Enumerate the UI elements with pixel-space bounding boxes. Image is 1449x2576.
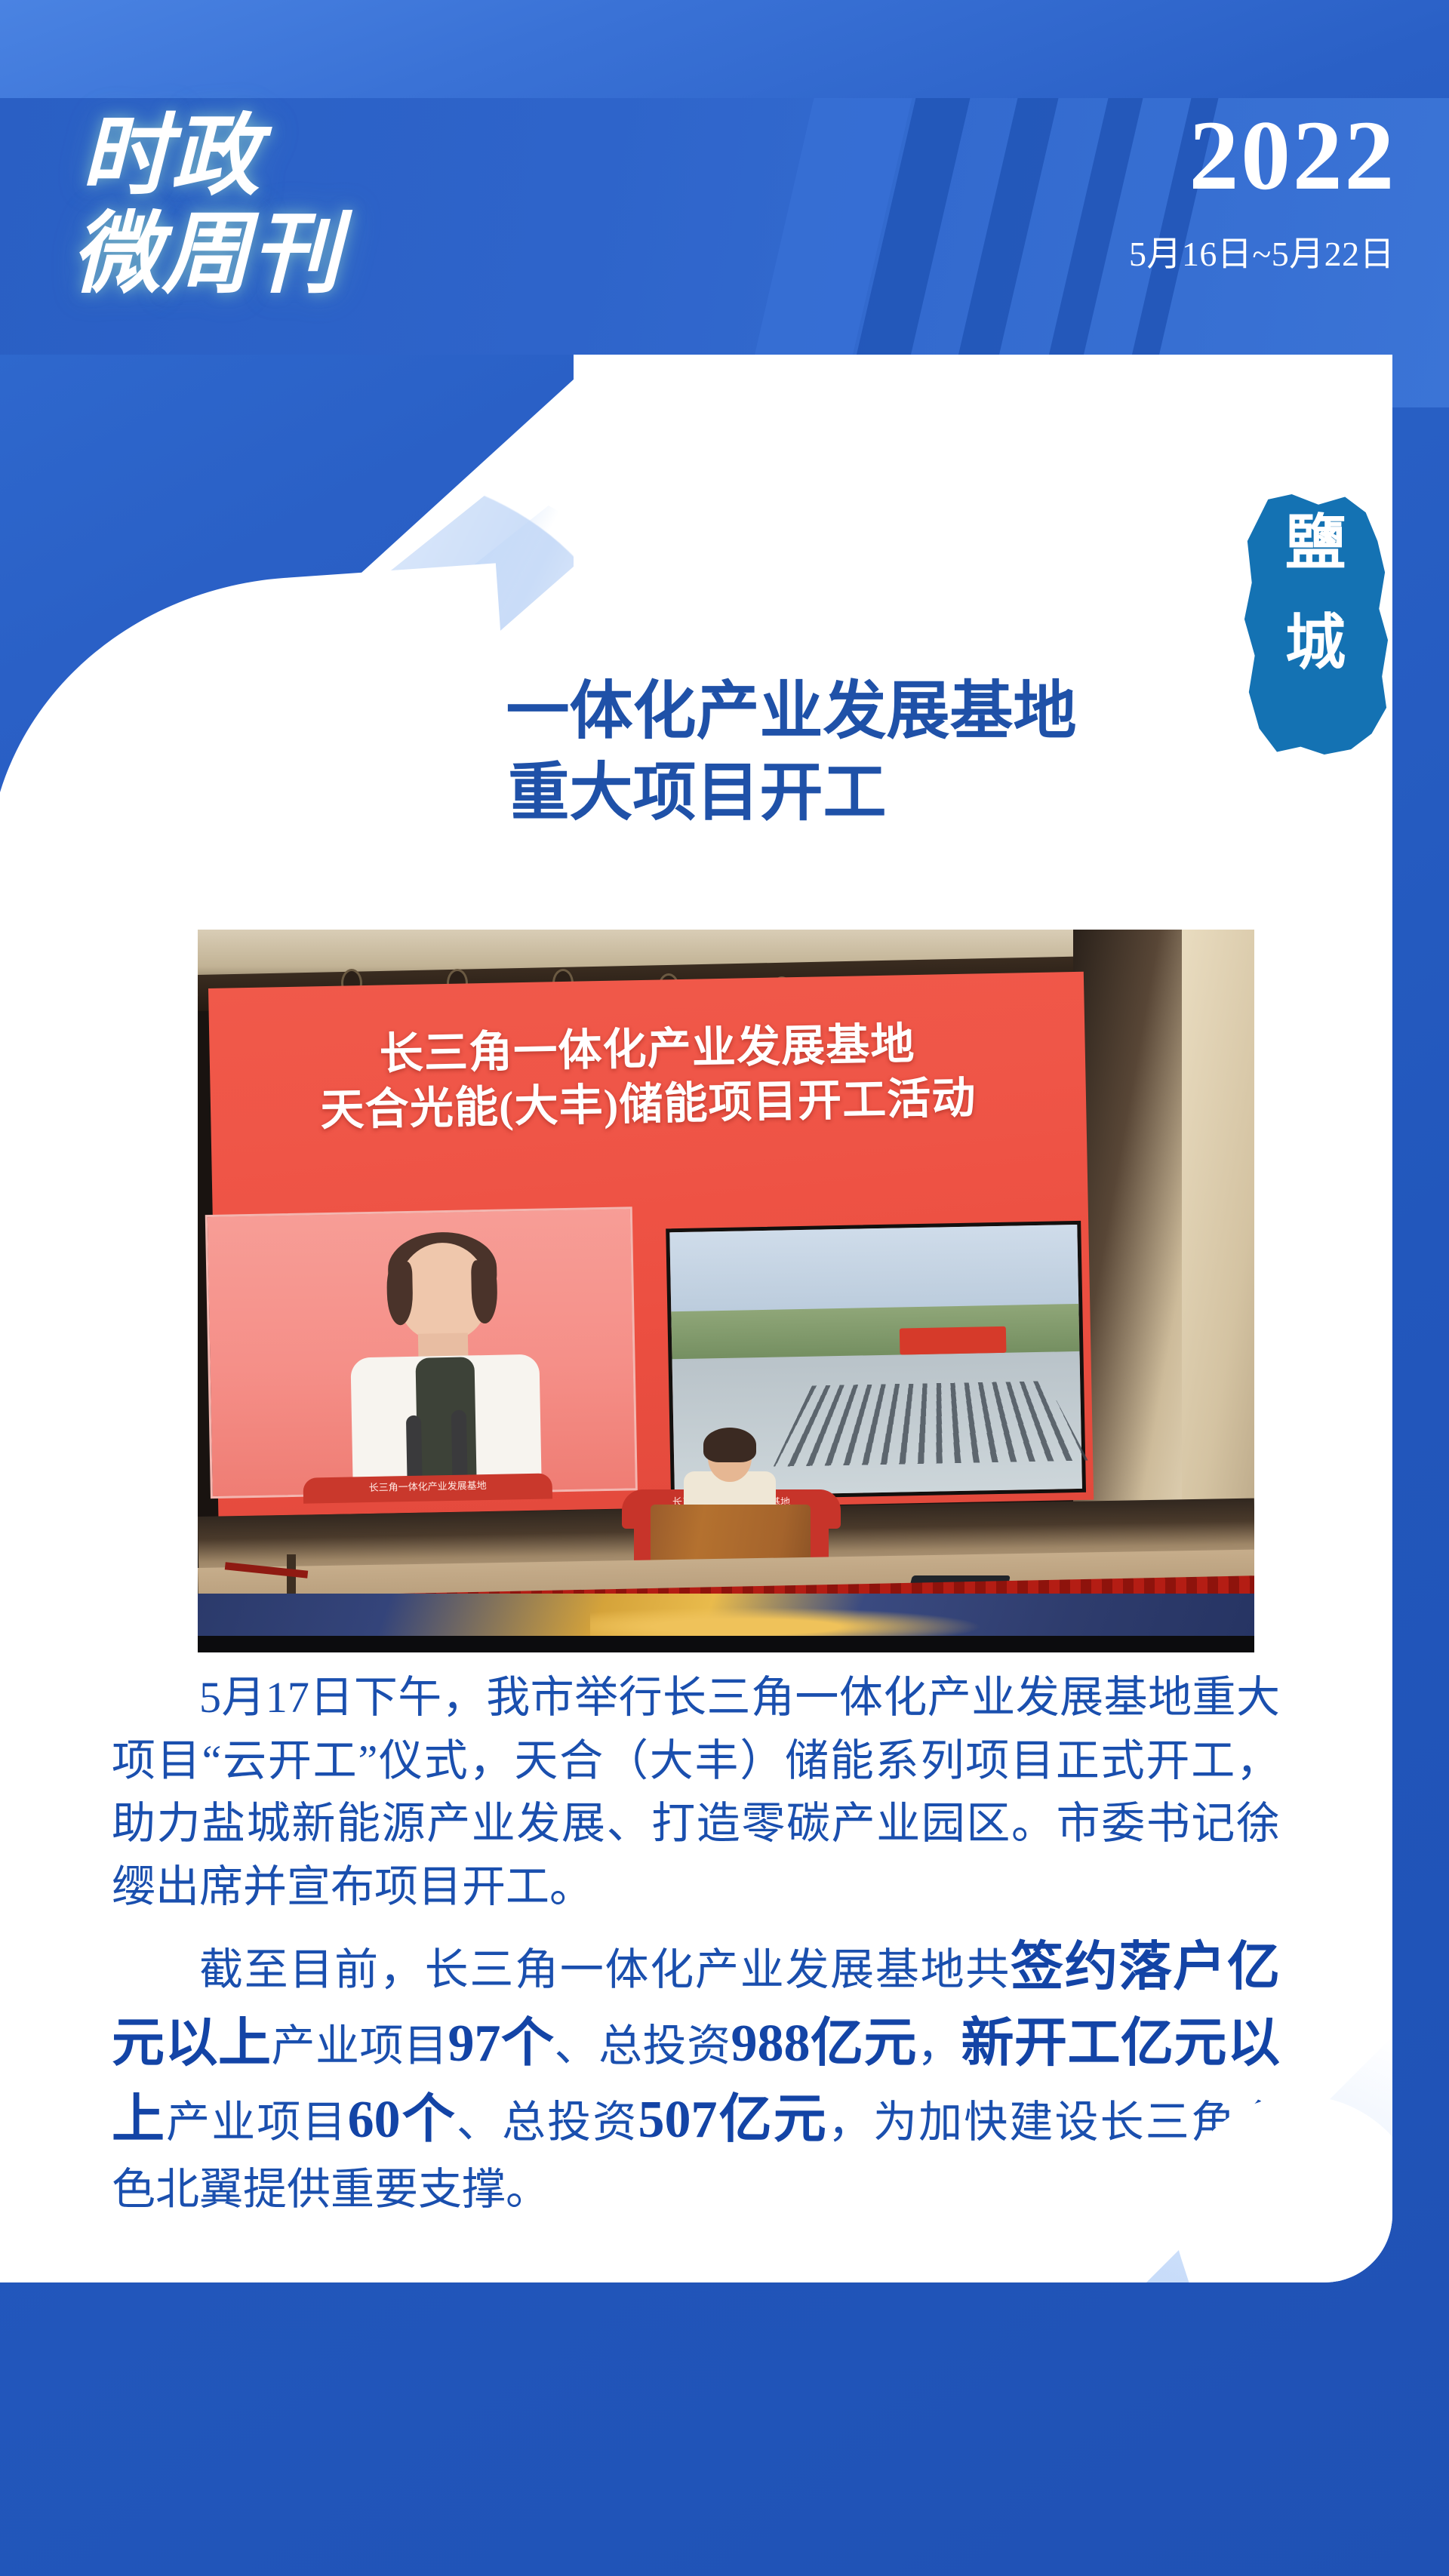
content-card: 长三角一体化产业发展基地 重大项目开工 长三角一体化产业发展基地 天合光能(大丰…	[0, 355, 1392, 2282]
photo-bottom-edge	[198, 1636, 1254, 1652]
article-title-line-1: 长三角一体化产业发展基地	[0, 672, 1392, 753]
photo-led-backdrop: 长三角一体化产业发展基地 天合光能(大丰)储能项目开工活动 长三角一体化产业发展…	[208, 972, 1094, 1517]
photo-video-banner	[900, 1326, 1006, 1355]
article-body: 5月17日下午，我市举行长三角一体化产业发展基地重大项目“云开工”仪式，天合（大…	[112, 1666, 1280, 2221]
photo-led-title: 长三角一体化产业发展基地 天合光能(大丰)储能项目开工活动	[209, 1014, 1087, 1140]
article-title-line-2: 重大项目开工	[0, 753, 1392, 835]
city-seal-char-1: 鹽	[1241, 511, 1389, 579]
photo-screen-person-top	[415, 1357, 476, 1478]
article-paragraph-2: 截至目前，长三角一体化产业发展基地共签约落户亿元以上产业项目97个、总投资988…	[112, 1930, 1280, 2221]
p2-text-2: 产业项目	[272, 2021, 448, 2070]
p2-text-5: 产业项目	[166, 2098, 348, 2147]
poster-footer: 盐阜大众报 众媒云	[0, 2282, 1449, 2576]
p2-number-investment-started: 507亿元	[638, 2091, 827, 2149]
poster-header: 时政 微周刊 2022 5月16日~5月22日	[0, 0, 1449, 407]
p2-text-4: ，	[917, 2021, 961, 2070]
photo-screen-person-hair-left	[386, 1262, 414, 1326]
masthead: 时政 微周刊	[72, 113, 494, 298]
photo-speaker-hair	[703, 1428, 756, 1462]
issue-date-range: 5月16日~5月22日	[1129, 226, 1395, 276]
issue-year: 2022	[1189, 106, 1396, 205]
p2-text-6: 、总投资	[457, 2098, 638, 2147]
photo-screen-person-hair-right	[471, 1260, 498, 1324]
masthead-line-2: 微周刊	[72, 211, 494, 299]
photo-sub-screen: 长三角一体化产业发展基地	[205, 1207, 638, 1499]
p2-text-1: 截至目前，长三角一体化产业发展基地共	[199, 1945, 1011, 1994]
article-title: 长三角一体化产业发展基地 重大项目开工	[0, 672, 1392, 834]
p2-number-projects-started: 60个	[348, 2091, 457, 2149]
article-photo: 长三角一体化产业发展基地 天合光能(大丰)储能项目开工活动 长三角一体化产业发展…	[198, 930, 1254, 1652]
masthead-line-1: 时政	[72, 113, 494, 201]
city-seal-badge: 鹽 城	[1241, 494, 1389, 755]
p2-text-3: 、总投资	[555, 2021, 731, 2070]
poster-root: 时政 微周刊 2022 5月16日~5月22日 长三角一体化产业发展基地 重大项…	[0, 0, 1449, 2576]
article-paragraph-1: 5月17日下午，我市举行长三角一体化产业发展基地重大项目“云开工”仪式，天合（大…	[112, 1666, 1280, 1918]
p2-number-projects-signed: 97个	[448, 2015, 555, 2073]
p2-number-investment-signed: 988亿元	[731, 2015, 918, 2073]
city-seal-char-2: 城	[1241, 610, 1389, 678]
